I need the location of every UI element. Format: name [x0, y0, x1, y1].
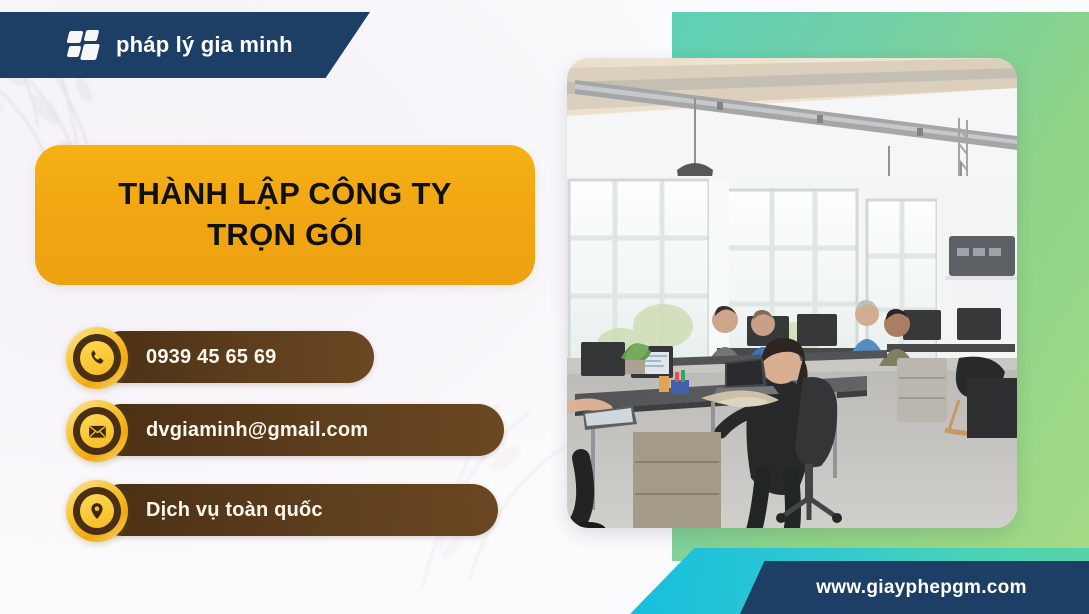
four-rhombus-logo-icon [68, 30, 102, 60]
brand-header-bar: pháp lý gia minh [0, 12, 370, 78]
footer-website-url[interactable]: www.giayphepgm.com [816, 577, 1027, 599]
contact-location-label: Dịch vụ toàn quốc [146, 499, 349, 522]
contact-email-row[interactable]: dvgiaminh@gmail.com [66, 398, 128, 464]
phone-badge [66, 327, 128, 389]
office-photo [567, 58, 1017, 528]
location-pin-icon [87, 501, 107, 521]
headline-plate: THÀNH LẬP CÔNG TY TRỌN GÓI [35, 145, 535, 285]
headline-line-2: TRỌN GÓI [207, 215, 363, 256]
contact-email-label: dvgiaminh@gmail.com [146, 419, 394, 442]
headline-line-1: THÀNH LẬP CÔNG TY [118, 174, 451, 215]
phone-icon [87, 348, 107, 368]
contact-phone-pill: 0939 45 65 69 [96, 331, 374, 383]
contact-phone-label: 0939 45 65 69 [146, 346, 303, 369]
contact-location-pill: Dịch vụ toàn quốc [96, 484, 498, 536]
contact-phone-row[interactable]: 0939 45 65 69 [66, 325, 128, 391]
contact-email-pill: dvgiaminh@gmail.com [96, 404, 504, 456]
email-badge [66, 400, 128, 462]
office-photo-illustration [567, 58, 1017, 528]
brand-name: pháp lý gia minh [116, 32, 293, 58]
banner-canvas: pháp lý gia minh THÀNH LẬP CÔNG TY TRỌN … [0, 0, 1089, 614]
contact-location-row[interactable]: Dịch vụ toàn quốc [66, 478, 128, 544]
envelope-icon [87, 421, 108, 442]
footer-bar: www.giayphepgm.com [740, 561, 1089, 614]
location-badge [66, 480, 128, 542]
